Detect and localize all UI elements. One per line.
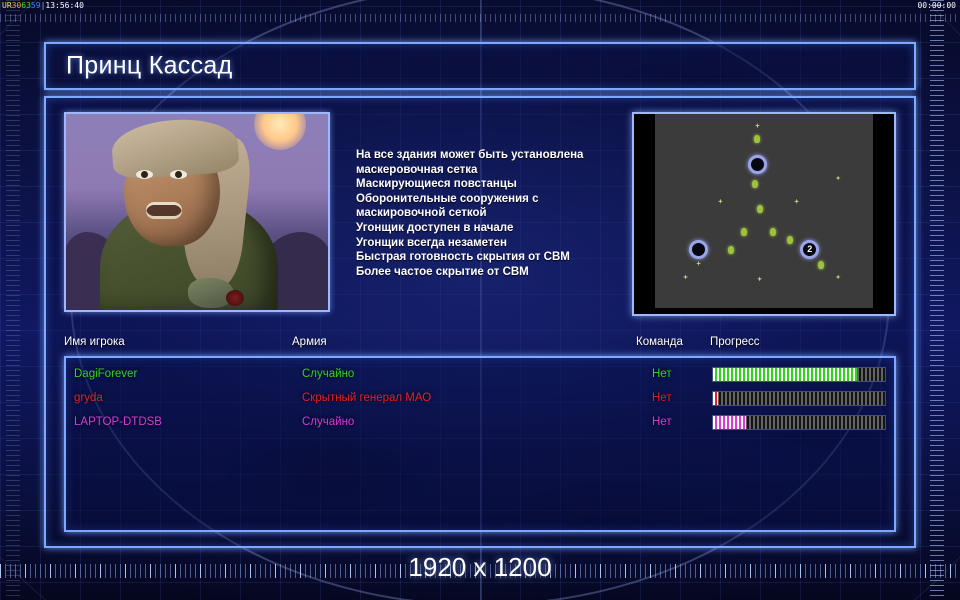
map-tech-building-icon (836, 274, 841, 279)
map-supply-icon (728, 246, 734, 254)
player-army[interactable]: Случайно (302, 368, 354, 380)
player-progress-bar (712, 391, 886, 406)
map-supply-icon (754, 135, 760, 143)
sun-decoration (254, 112, 306, 150)
map-tech-building-icon (718, 199, 723, 204)
progress-fill (713, 368, 857, 381)
column-header-name: Имя игрока (64, 336, 125, 348)
player-progress-bar (712, 367, 886, 382)
portrait-mouth (146, 202, 182, 219)
player-army[interactable]: Скрытный генерал МАО (302, 392, 431, 404)
map-supply-icon (818, 261, 824, 269)
column-header-army: Армия (292, 336, 327, 348)
column-header-progress: Прогресс (710, 336, 760, 348)
ability-line: Оборонительные сооружения с (356, 192, 626, 207)
player-team[interactable]: Нет (652, 392, 672, 404)
ability-line: Угонщик доступен в начале (356, 221, 626, 236)
map-start-position-2[interactable] (689, 240, 708, 259)
player-row[interactable]: LAPTOP-DTDSBСлучайноНет (74, 412, 890, 436)
player-team[interactable]: Нет (652, 416, 672, 428)
map-terrain: 2 (655, 114, 873, 308)
map-tech-building-icon (755, 123, 760, 128)
player-name: DagiForever (74, 368, 137, 380)
lobby-body-panel: На все здания может быть установлена мас… (44, 96, 916, 548)
portrait-eye-right (170, 170, 187, 179)
ruler-right (930, 0, 944, 600)
map-tech-building-icon (757, 276, 762, 281)
ability-line: Быстрая готовность скрытия от СВМ (356, 250, 626, 265)
ability-line: маскировочной сеткой (356, 206, 626, 221)
column-header-team: Команда (636, 336, 683, 348)
ruler-left (6, 0, 20, 600)
portrait-eye-left (136, 170, 153, 179)
map-supply-icon (752, 180, 758, 188)
progress-fill (713, 416, 746, 429)
map-tech-building-icon (794, 199, 799, 204)
player-row[interactable]: DagiForeverСлучайноНет (74, 364, 890, 388)
progress-track (713, 392, 885, 405)
player-name: LAPTOP-DTDSB (74, 416, 162, 428)
player-table-header: Имя игрока Армия Команда Прогресс (64, 336, 896, 356)
player-progress-bar (712, 415, 886, 430)
player-team[interactable]: Нет (652, 368, 672, 380)
title-panel: Принц Кассад (44, 42, 916, 90)
player-row[interactable]: grydaСкрытный генерал МАОНет (74, 388, 890, 412)
general-portrait (64, 112, 330, 312)
status-value-1: 30 (12, 1, 22, 10)
ability-line: На все здания может быть установлена (356, 148, 626, 163)
page-title: Принц Кассад (66, 52, 232, 81)
game-lobby-screen: UR306359|13:56:40 00:00:00 Принц Кассад (0, 0, 960, 600)
map-supply-icon (787, 236, 793, 244)
map-start-position-3[interactable]: 2 (800, 240, 819, 259)
match-timer: 00:00:00 (917, 0, 956, 11)
map-tech-building-icon (836, 176, 841, 181)
map-start-position-1[interactable] (748, 155, 767, 174)
map-tech-building-icon (683, 274, 688, 279)
map-preview[interactable]: 2 (632, 112, 896, 316)
ability-line: маскеровочная сетка (356, 163, 626, 178)
status-label: UR (2, 1, 12, 10)
resolution-label: 1920 x 1200 (0, 552, 960, 583)
map-supply-icon (770, 228, 776, 236)
status-bar-left: UR306359|13:56:40 (2, 0, 84, 11)
general-abilities-list: На все здания может быть установлена мас… (356, 148, 626, 279)
status-value-3: 59 (31, 1, 41, 10)
portrait-lamp-prop (188, 278, 234, 308)
player-table: DagiForeverСлучайноНетgrydaСкрытный гене… (64, 356, 896, 532)
player-name: gryda (74, 392, 103, 404)
ability-line: Маскирующиеся повстанцы (356, 177, 626, 192)
general-info-row: На все здания может быть установлена мас… (64, 112, 896, 322)
status-clock: 13:56:40 (45, 1, 84, 10)
progress-fill (713, 392, 718, 405)
map-supply-icon (741, 228, 747, 236)
map-supply-icon (757, 205, 763, 213)
map-tech-building-icon (696, 261, 701, 266)
ability-line: Угонщик всегда незаметен (356, 236, 626, 251)
ability-line: Более частое скрытие от СВМ (356, 265, 626, 280)
status-value-2: 63 (21, 1, 31, 10)
player-army[interactable]: Случайно (302, 416, 354, 428)
